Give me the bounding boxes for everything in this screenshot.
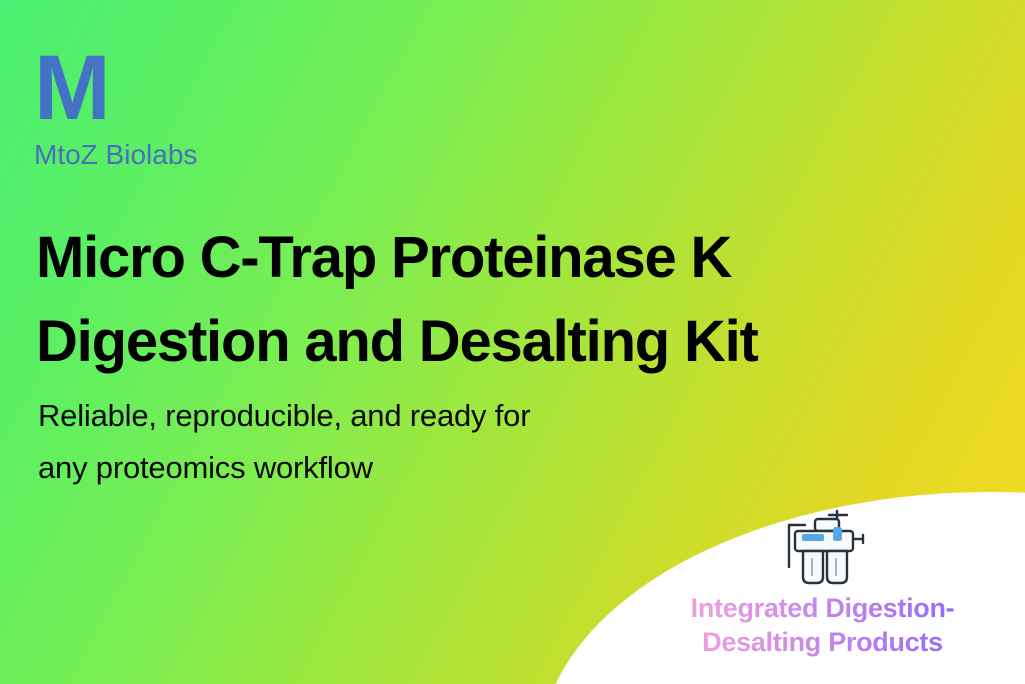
headline-line-2: Digestion and Desalting Kit bbox=[36, 300, 916, 384]
promo-banner: M MtoZ Biolabs Micro C-Trap Proteinase K… bbox=[0, 0, 1025, 684]
subtitle-line-2: any proteomics workflow bbox=[38, 442, 658, 494]
brand-monogram-m: M bbox=[34, 46, 197, 131]
product-badge-caption-line-2: Desalting Products bbox=[620, 625, 1025, 659]
brand-name-label: MtoZ Biolabs bbox=[34, 139, 197, 171]
product-badge-caption: Integrated Digestion- Desalting Products bbox=[620, 591, 1025, 659]
subtitle: Reliable, reproducible, and ready for an… bbox=[38, 390, 658, 494]
brand-logo: M MtoZ Biolabs bbox=[34, 46, 197, 171]
water-filtration-system-icon bbox=[775, 505, 871, 585]
product-badge-caption-line-1: Integrated Digestion- bbox=[620, 591, 1025, 625]
subtitle-line-1: Reliable, reproducible, and ready for bbox=[38, 390, 658, 442]
headline: Micro C-Trap Proteinase K Digestion and … bbox=[36, 216, 916, 384]
headline-line-1: Micro C-Trap Proteinase K bbox=[36, 216, 916, 300]
product-badge: Integrated Digestion- Desalting Products bbox=[620, 505, 1025, 659]
